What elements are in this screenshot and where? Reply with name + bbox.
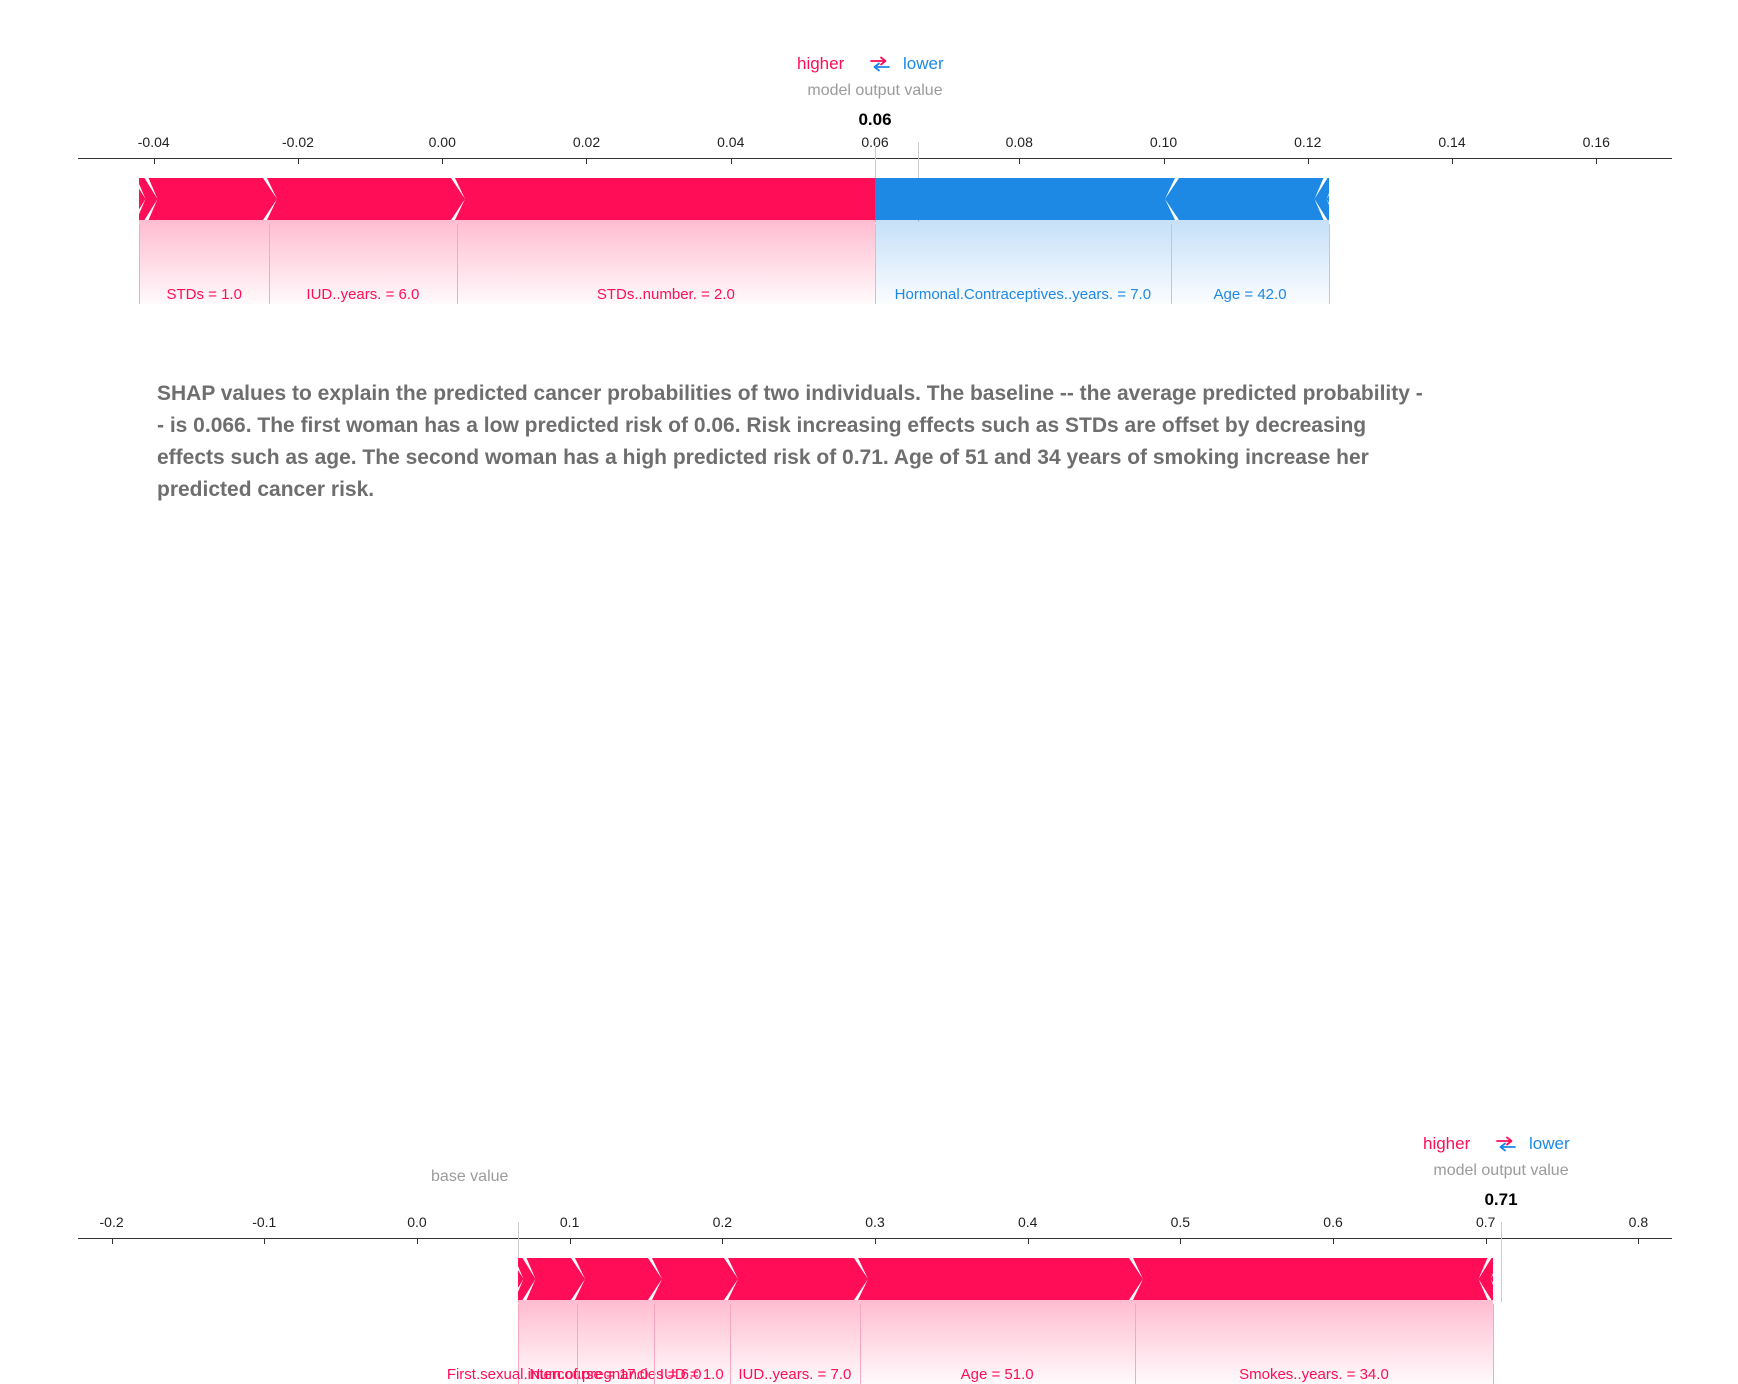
feature-label: STDs = 1.0 (166, 286, 241, 303)
x-axis-tick (298, 158, 299, 164)
x-axis-tick (731, 158, 732, 164)
x-axis-tick (154, 158, 155, 164)
label-divider (139, 224, 140, 304)
x-axis-tick-label: -0.02 (282, 134, 314, 150)
x-axis-tick-label: 0.04 (717, 134, 744, 150)
feature-label: IUD..years. = 7.0 (738, 1366, 851, 1383)
x-axis-tick-label: 0.02 (573, 134, 600, 150)
legend-higher-label: higher (1423, 1134, 1470, 1154)
feature-label: Hormonal.Contraceptives..years. = 7.0 (895, 286, 1151, 303)
x-axis-tick-label: 0.3 (865, 1214, 884, 1230)
x-axis-tick (586, 158, 587, 164)
label-divider (730, 1304, 731, 1384)
force-segment (577, 1258, 653, 1300)
force-segment (1135, 1258, 1494, 1300)
x-axis-tick (1486, 1238, 1487, 1244)
x-axis-tick (1308, 158, 1309, 164)
label-divider (1171, 224, 1172, 304)
feature-label: IUD = 1.0 (660, 1366, 724, 1383)
base-value-label: base value (431, 1168, 508, 1186)
x-axis-tick (1596, 158, 1597, 164)
legend-lower-label: lower (903, 54, 944, 74)
force-segment (1171, 178, 1330, 220)
x-axis-tick-label: 0.12 (1294, 134, 1321, 150)
model-output-value: 0.71 (1484, 1190, 1517, 1210)
output-value-line (1501, 1222, 1502, 1302)
label-divider (457, 224, 458, 304)
x-axis-tick (1333, 1238, 1334, 1244)
x-axis-tick-label: 0.14 (1438, 134, 1465, 150)
x-axis-tick (1452, 158, 1453, 164)
x-axis-tick-label: 0.6 (1323, 1214, 1342, 1230)
x-axis-tick-label: 0.7 (1476, 1214, 1495, 1230)
model-output-value-label: model output value (807, 82, 942, 100)
x-axis-tick (1164, 158, 1165, 164)
x-axis-tick-label: 0.10 (1150, 134, 1177, 150)
x-axis-tick-label: -0.04 (138, 134, 170, 150)
x-axis-tick-label: 0.5 (1171, 1214, 1190, 1230)
force-segment (269, 178, 457, 220)
x-axis-tick (1028, 1238, 1029, 1244)
label-divider (1493, 1304, 1494, 1384)
x-axis-tick-label: 0.08 (1006, 134, 1033, 150)
swap-arrows-icon (1495, 1136, 1517, 1152)
force-segment (518, 1258, 578, 1300)
label-divider (654, 1304, 655, 1384)
force-segment (860, 1258, 1135, 1300)
label-divider (875, 224, 876, 304)
feature-label: Smokes..years. = 34.0 (1239, 1366, 1389, 1383)
force-segment (139, 178, 269, 220)
x-axis-tick-label: -0.1 (252, 1214, 276, 1230)
x-axis-tick (112, 1238, 113, 1244)
legend-lower-label: lower (1529, 1134, 1570, 1154)
force-segment (875, 178, 1171, 220)
feature-label: Age = 42.0 (1214, 286, 1287, 303)
force-plot-bottom: -0.2-0.10.00.10.20.30.40.50.60.70.8base … (0, 560, 1738, 890)
x-axis-tick-label: 0.4 (1018, 1214, 1037, 1230)
feature-label: STDs..number. = 2.0 (597, 286, 735, 303)
x-axis-tick (442, 158, 443, 164)
label-divider (1135, 1304, 1136, 1384)
feature-label: Age = 51.0 (961, 1366, 1034, 1383)
x-axis-tick-label: -0.2 (100, 1214, 124, 1230)
feature-label: IUD..years. = 6.0 (306, 286, 419, 303)
force-bar (139, 178, 1329, 220)
x-axis-tick (875, 1238, 876, 1244)
x-axis-tick-label: 0.00 (429, 134, 456, 150)
x-axis-tick (264, 1238, 265, 1244)
model-output-value-label: model output value (1433, 1162, 1568, 1180)
x-axis-tick-label: 0.16 (1583, 134, 1610, 150)
x-axis-tick-label: 0.2 (713, 1214, 732, 1230)
x-axis-tick-label: 0.8 (1629, 1214, 1648, 1230)
label-divider (269, 224, 270, 304)
x-axis-tick (1019, 158, 1020, 164)
swap-arrows-icon (869, 56, 891, 72)
force-segment (730, 1258, 860, 1300)
model-output-value: 0.06 (858, 110, 891, 130)
force-segment (457, 178, 875, 220)
force-segment (654, 1258, 730, 1300)
force-bar (518, 1258, 1494, 1300)
x-axis-tick (417, 1238, 418, 1244)
x-axis-tick-label: 0.1 (560, 1214, 579, 1230)
label-divider (860, 1304, 861, 1384)
x-axis-tick (1638, 1238, 1639, 1244)
legend-higher-label: higher (797, 54, 844, 74)
label-divider (1329, 224, 1330, 304)
force-plot-top: -0.04-0.020.000.020.040.060.080.100.120.… (0, 0, 1738, 330)
x-axis-tick (1180, 1238, 1181, 1244)
x-axis-tick (722, 1238, 723, 1244)
x-axis-tick-label: 0.0 (407, 1214, 426, 1230)
x-axis-tick (570, 1238, 571, 1244)
figure-caption: SHAP values to explain the predicted can… (157, 378, 1427, 506)
